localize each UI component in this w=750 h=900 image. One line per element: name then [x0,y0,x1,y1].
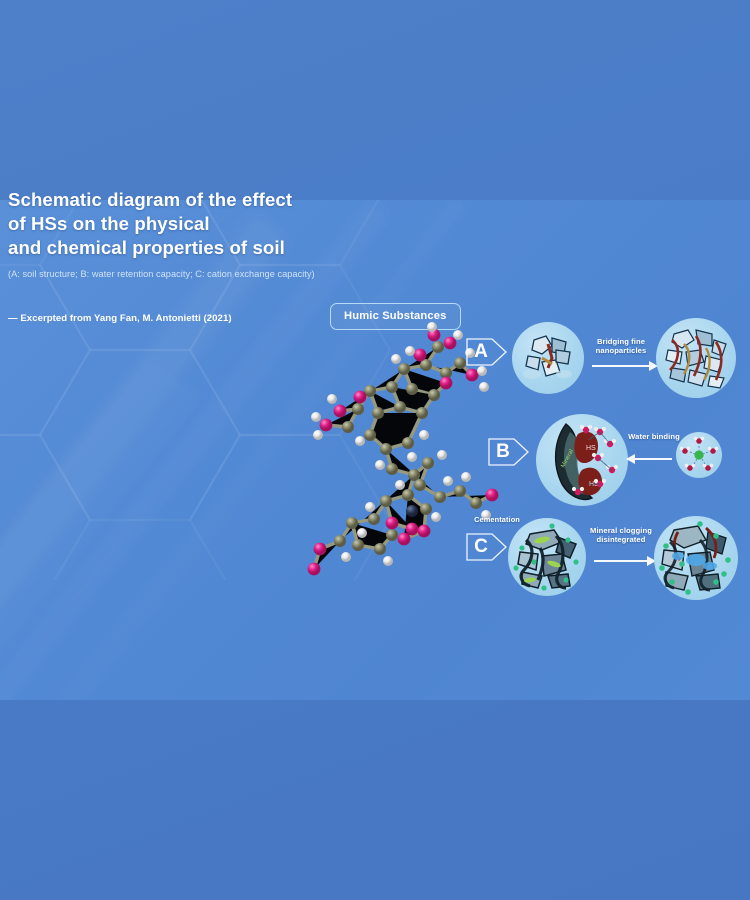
panel-tag-a-letter: A [466,333,496,371]
panel-a-process-label-line1: Bridging fine [586,337,656,346]
panel-b-after-circle [676,432,722,478]
panel-a-process-label: Bridging fine nanoparticles [586,337,656,356]
panel-c-process-label-line2: disintegrated [578,535,664,544]
panel-c-process-label: Mineral clogging disintegrated [578,526,664,545]
panel-b-before-circle: HS HS Mineral [536,414,628,506]
panel-a-process-label-line2: nanoparticles [586,346,656,355]
title-line-1: Schematic diagram of the effect [8,188,338,212]
figure-subtitle: (A: soil structure; B: water retention c… [8,268,338,280]
panel-b-process-label-line1: Water binding [626,432,682,441]
panel-b-process-arrow [634,458,672,460]
figure-canvas: Schematic diagram of the effect of HSs o… [0,0,750,900]
panel-c-process-arrow [594,560,648,562]
panel-tag-b: B [488,433,530,471]
svg-text:HS: HS [586,445,596,452]
panel-tag-c-letter: C [466,528,496,566]
title-line-3: and chemical properties of soil [8,236,338,260]
panel-a-before-circle [512,322,584,394]
panel-b-process-label: Water binding [626,432,682,441]
caption-block: Schematic diagram of the effect of HSs o… [8,188,338,324]
panel-tag-b-letter: B [488,433,518,471]
panel-a-after-circle [656,318,736,398]
figure-attribution: — Excerpted from Yang Fan, M. Antonietti… [8,313,338,324]
panel-tag-a: A [466,333,508,371]
panel-c-before-circle [508,518,586,596]
panel-a-process-arrow [592,365,650,367]
figure-title: Schematic diagram of the effect of HSs o… [8,188,338,259]
panel-tag-c: C [466,528,508,566]
panel-c-after-circle [654,516,738,600]
panel-c-process-label-line1: Mineral clogging [578,526,664,535]
title-line-2: of HSs on the physical [8,212,338,236]
